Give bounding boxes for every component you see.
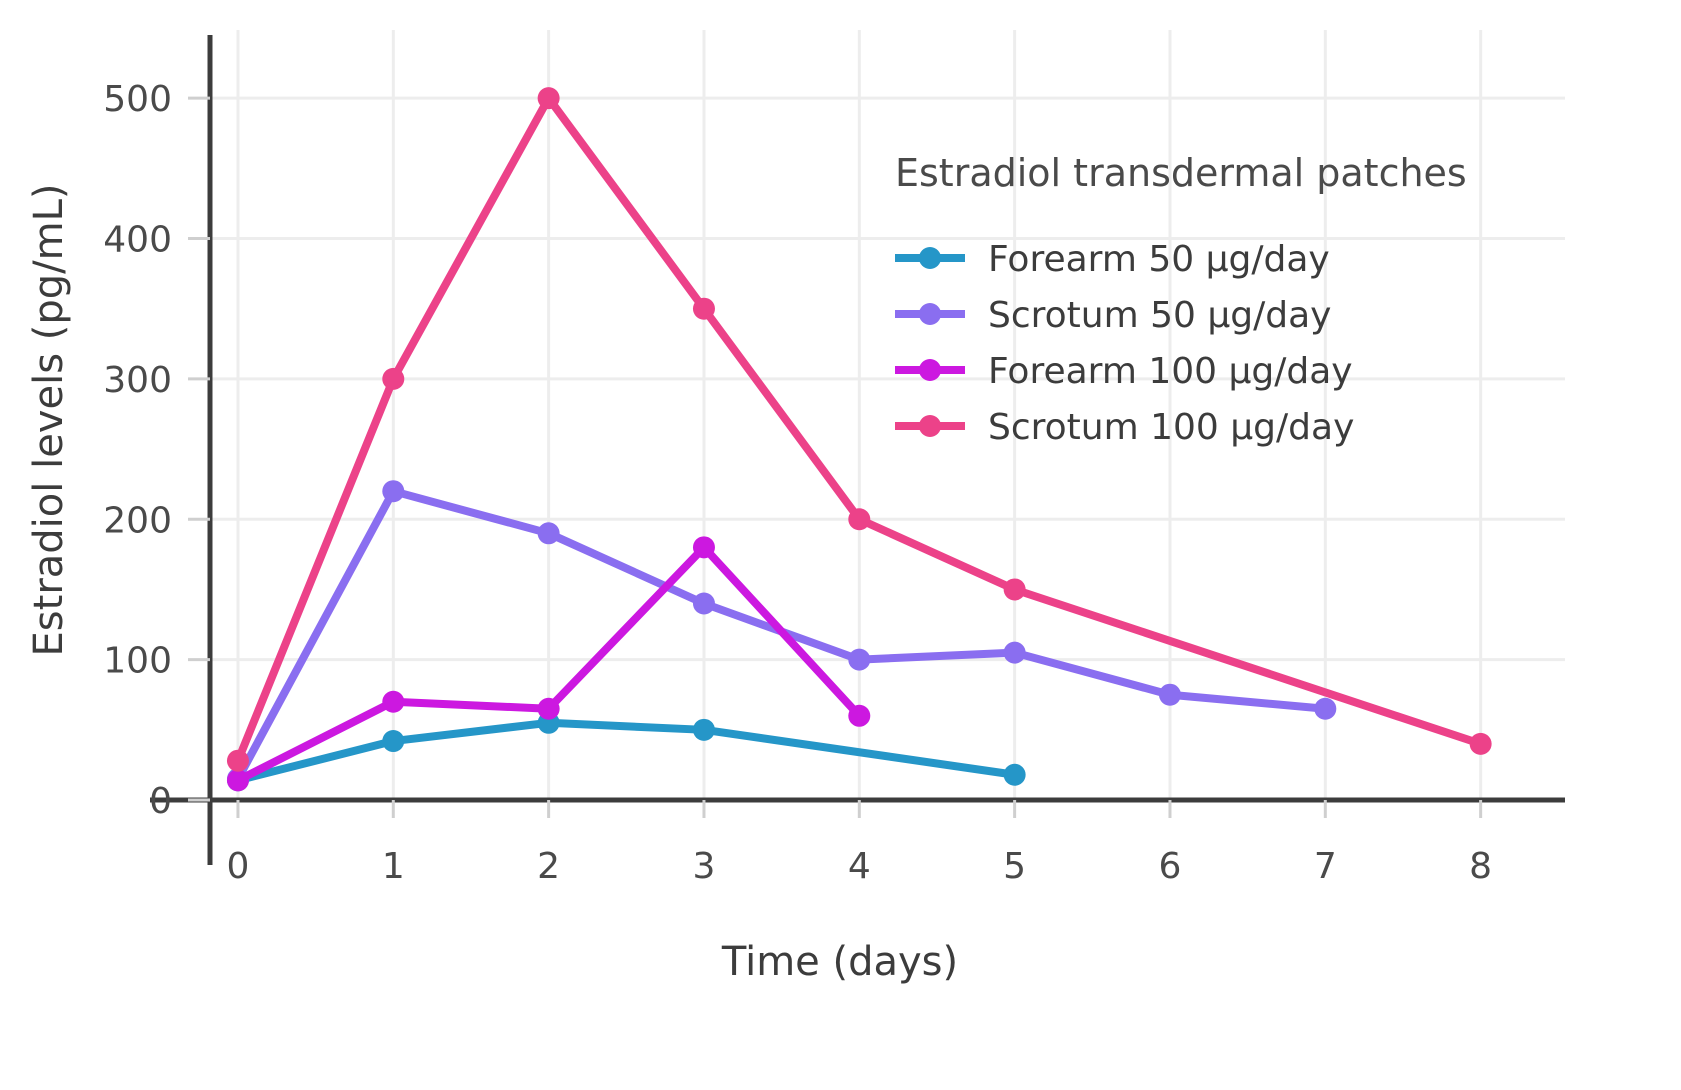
data-point — [848, 649, 870, 671]
legend-item-0[interactable]: Forearm 50 µg/day — [895, 239, 1330, 280]
data-point — [693, 298, 715, 320]
y-tick-marks — [188, 98, 210, 800]
legend-item-3[interactable]: Scrotum 100 µg/day — [895, 407, 1354, 448]
line-chart: 012345678 0100200300400500 Time (days) E… — [0, 0, 1681, 1090]
data-point — [848, 705, 870, 727]
x-tick-marks — [238, 800, 1481, 818]
data-point — [693, 719, 715, 741]
data-point — [1004, 642, 1026, 664]
data-point — [382, 368, 404, 390]
data-point — [1004, 764, 1026, 786]
data-point — [1314, 698, 1336, 720]
legend-swatch-marker — [919, 303, 941, 325]
x-tick-label: 6 — [1159, 846, 1182, 887]
x-tick-label: 8 — [1469, 846, 1492, 887]
legend-swatch-marker — [919, 247, 941, 269]
x-tick-label: 1 — [382, 846, 405, 887]
data-point — [538, 698, 560, 720]
y-tick-label: 200 — [103, 500, 172, 541]
legend-title: Estradiol transdermal patches — [895, 151, 1467, 195]
legend-item-label: Scrotum 50 µg/day — [988, 295, 1331, 336]
data-point — [1470, 733, 1492, 755]
legend-item-label: Forearm 50 µg/day — [988, 239, 1330, 280]
x-tick-label: 0 — [227, 846, 250, 887]
x-tick-label: 4 — [848, 846, 871, 887]
data-point — [1004, 578, 1026, 600]
x-tick-label: 7 — [1314, 846, 1337, 887]
y-axis-title: Estradiol levels (pg/mL) — [26, 184, 72, 657]
data-point — [227, 750, 249, 772]
y-tick-label: 0 — [149, 781, 172, 822]
y-tick-label: 500 — [103, 79, 172, 120]
x-tick-label: 3 — [693, 846, 716, 887]
x-axis-title: Time (days) — [721, 939, 958, 985]
data-point — [538, 87, 560, 109]
data-point — [538, 522, 560, 544]
legend-swatch-marker — [919, 415, 941, 437]
data-point — [693, 592, 715, 614]
legend-item-2[interactable]: Forearm 100 µg/day — [895, 351, 1353, 392]
series-line — [238, 723, 1015, 781]
gridlines — [208, 30, 1565, 800]
data-point — [1159, 684, 1181, 706]
legend-item-label: Scrotum 100 µg/day — [988, 407, 1354, 448]
legend-item-1[interactable]: Scrotum 50 µg/day — [895, 295, 1331, 336]
legend-swatch-marker — [919, 359, 941, 381]
data-point — [382, 691, 404, 713]
y-tick-label: 100 — [103, 641, 172, 682]
data-point — [382, 730, 404, 752]
x-tick-labels: 012345678 — [227, 846, 1493, 887]
data-point — [227, 769, 249, 791]
x-tick-label: 5 — [1003, 846, 1026, 887]
y-tick-label: 300 — [103, 360, 172, 401]
y-tick-label: 400 — [103, 220, 172, 261]
x-tick-label: 2 — [537, 846, 560, 887]
data-point — [848, 508, 870, 530]
chart-container: 012345678 0100200300400500 Time (days) E… — [0, 0, 1681, 1090]
legend-item-label: Forearm 100 µg/day — [988, 351, 1353, 392]
y-tick-labels: 0100200300400500 — [103, 79, 172, 822]
legend-items: Forearm 50 µg/dayScrotum 50 µg/dayForear… — [895, 239, 1354, 448]
data-point — [382, 480, 404, 502]
data-point — [693, 536, 715, 558]
